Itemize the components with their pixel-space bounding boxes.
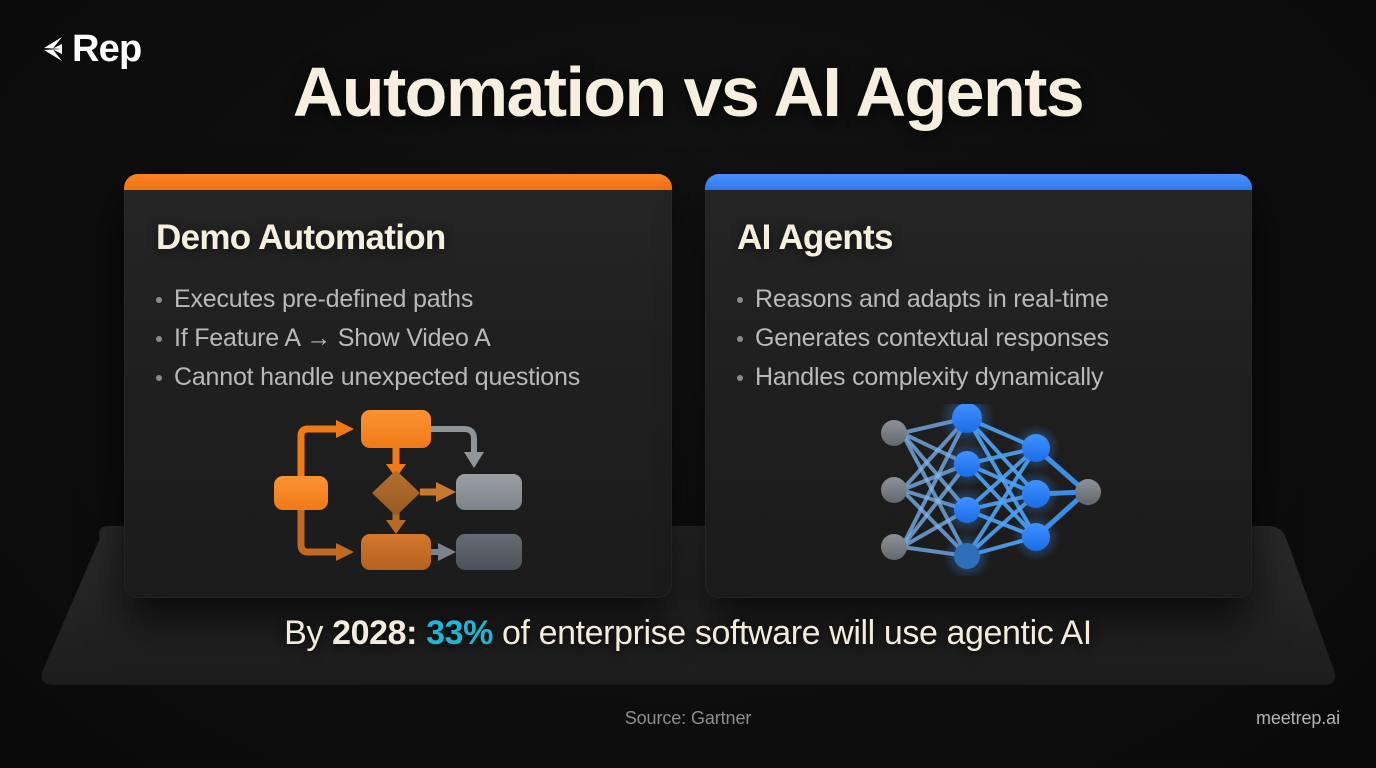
bullet-dot-icon xyxy=(737,336,743,342)
stat-suffix: of enterprise software will use agentic … xyxy=(493,614,1092,652)
bullet-list: Executes pre-defined paths If Feature A … xyxy=(156,280,640,397)
list-item: Cannot handle unexpected questions xyxy=(156,358,640,397)
stat-banner: By 2028: 33% of enterprise software will… xyxy=(0,614,1376,653)
source-credit: Source: Gartner xyxy=(0,708,1376,729)
bullet-text: Generates contextual responses xyxy=(755,319,1109,358)
bullet-dot-icon xyxy=(156,297,162,303)
slide-canvas: Rep Automation vs AI Agents Demo Automat… xyxy=(0,0,1376,768)
site-url: meetrep.ai xyxy=(1256,708,1340,729)
bullet-text: Reasons and adapts in real-time xyxy=(755,280,1109,319)
page-title: Automation vs AI Agents xyxy=(0,56,1376,130)
list-item: Handles complexity dynamically xyxy=(737,358,1220,397)
bullet-dot-icon xyxy=(156,375,162,381)
bullet-dot-icon xyxy=(156,336,162,342)
stat-percent: 33% xyxy=(426,614,493,652)
bullet-list: Reasons and adapts in real-time Generate… xyxy=(737,280,1220,397)
bullet-dot-icon xyxy=(737,297,743,303)
card-accent-bar-blue xyxy=(705,174,1252,190)
card-accent-bar-orange xyxy=(124,174,672,190)
card-title: Demo Automation xyxy=(156,218,640,258)
card-demo-automation[interactable]: Demo Automation Executes pre-defined pat… xyxy=(124,174,672,598)
neural-network-diagram xyxy=(705,404,1252,590)
stat-prefix: By xyxy=(284,614,332,652)
list-item: Executes pre-defined paths xyxy=(156,280,640,319)
stat-year: 2028: xyxy=(332,614,417,652)
card-title: AI Agents xyxy=(737,218,1220,258)
flowchart-diagram xyxy=(124,404,672,590)
list-item: Generates contextual responses xyxy=(737,319,1220,358)
bullet-text: Handles complexity dynamically xyxy=(755,358,1103,397)
list-item: If Feature A → Show Video A xyxy=(156,319,640,358)
bullet-text: Executes pre-defined paths xyxy=(174,280,473,319)
bullet-text: Cannot handle unexpected questions xyxy=(174,358,580,397)
card-ai-agents[interactable]: AI Agents Reasons and adapts in real-tim… xyxy=(705,174,1252,598)
bullet-text: If Feature A → Show Video A xyxy=(174,319,491,358)
list-item: Reasons and adapts in real-time xyxy=(737,280,1220,319)
bullet-dot-icon xyxy=(737,375,743,381)
